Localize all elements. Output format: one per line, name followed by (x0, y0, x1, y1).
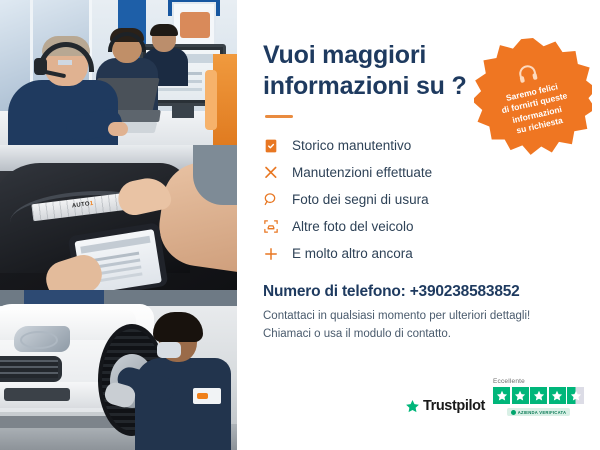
callout-badge: Saremo felici di fornirti queste informa… (474, 38, 592, 156)
trustpilot-rating-label: Eccellente (493, 378, 525, 385)
list-item: Altre foto del veicolo (263, 213, 580, 240)
contact-subtext: Contattaci in qualsiasi momento per ulte… (263, 308, 580, 344)
verified-business-badge: AZIENDA VERIFICATA (507, 408, 571, 416)
car-scan-icon (263, 219, 279, 235)
feature-label: Manutenzioni effettuate (292, 165, 432, 180)
vehicle-inspection-tablet-photo: AUTO1 (0, 145, 237, 290)
feature-label: Foto dei segni di usura (292, 192, 429, 207)
trustpilot-star-icon (405, 399, 420, 414)
star-half (567, 387, 584, 404)
verified-check-icon (511, 410, 516, 415)
contact-subtext-line-2: Chiamaci o usa il modulo di contatto. (263, 326, 580, 344)
trustpilot-brand: Trustpilot (423, 398, 485, 414)
clipboard-check-icon (263, 138, 279, 154)
title-underline-accent (265, 115, 293, 118)
feature-label: Storico manutentivo (292, 138, 411, 153)
list-item: Manutenzioni effettuate (263, 159, 580, 186)
trustpilot-stars (493, 387, 584, 404)
plus-icon (263, 246, 279, 262)
call-center-agents-photo (0, 0, 237, 145)
trustpilot-widget[interactable]: Trustpilot Eccellente AZIENDA VERIFICATA (405, 378, 584, 416)
photo-column: AUTO1 (0, 0, 237, 450)
headset-icon (514, 60, 540, 86)
promo-banner: AUTO1 (0, 0, 600, 450)
star-full (549, 387, 566, 404)
trustpilot-logo: Trustpilot (405, 398, 485, 416)
star-full (493, 387, 510, 404)
phone-number[interactable]: Numero di telefono: +390238583852 (263, 283, 580, 301)
magnifier-icon (263, 192, 279, 208)
tools-cross-icon (263, 165, 279, 181)
list-item: E molto altro ancora (263, 240, 580, 267)
list-item: Foto dei segni di usura (263, 186, 580, 213)
feature-label: E molto altro ancora (292, 246, 413, 261)
badge-text: Saremo felici di fornirti queste informa… (485, 76, 587, 142)
feature-label: Altre foto del veicolo (292, 219, 414, 234)
mechanic-wheel-service-photo (0, 290, 237, 450)
contact-subtext-line-1: Contattaci in qualsiasi momento per ulte… (263, 308, 580, 326)
star-full (530, 387, 547, 404)
verified-label: AZIENDA VERIFICATA (518, 410, 567, 415)
content-panel: Vuoi maggiori informazioni su ? Storico … (237, 0, 600, 450)
star-full (512, 387, 529, 404)
